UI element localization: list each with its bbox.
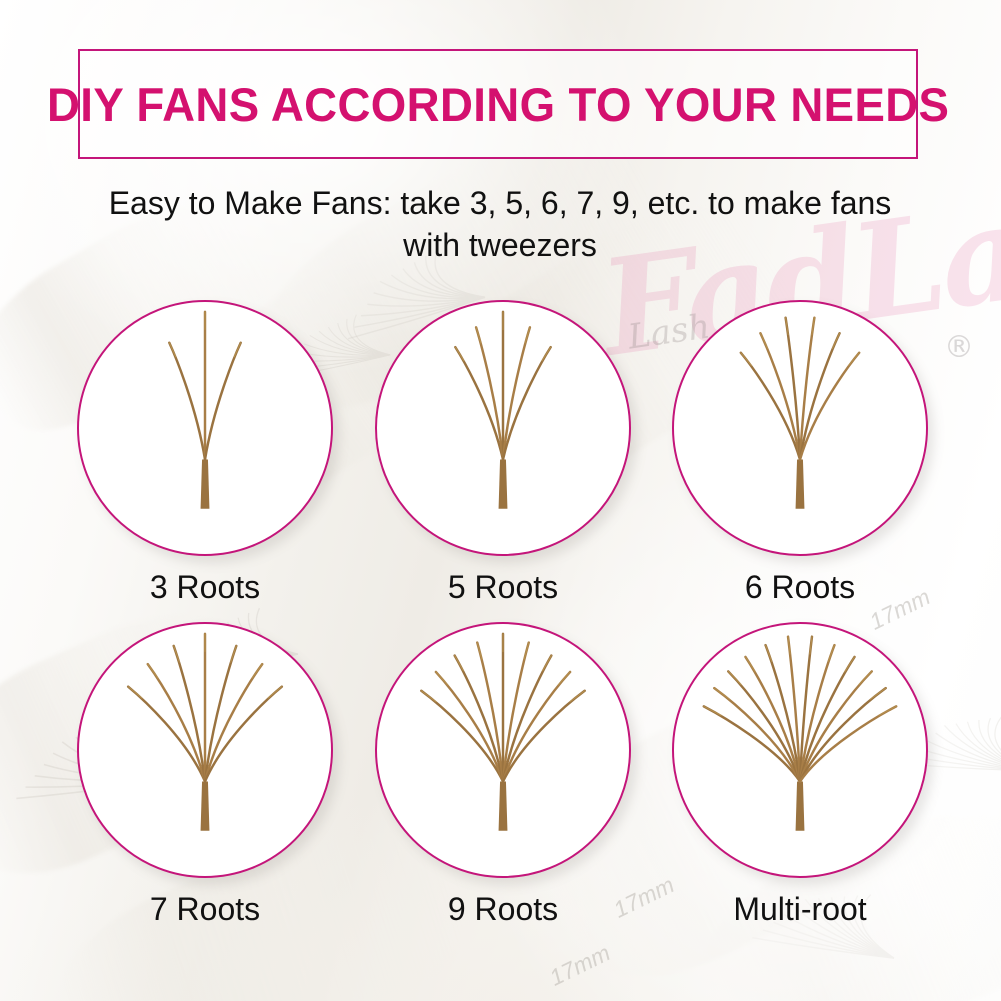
infographic-page: FadLash Lash ® 17mm 17mm 17mm DIY FANS A…	[0, 0, 1001, 1001]
lash-strand-tip	[728, 671, 741, 684]
lash-strand	[205, 687, 282, 782]
fan-circle[interactable]	[375, 300, 631, 556]
lash-fan-illustration	[674, 302, 926, 554]
lash-strand-tip	[477, 643, 482, 660]
fan-row: 3 Roots5 Roots6 Roots	[0, 300, 1001, 622]
lash-strand	[741, 353, 800, 460]
fan-cell-5-roots[interactable]: 5 Roots	[353, 300, 653, 606]
lash-strand-tip	[252, 664, 262, 678]
fan-circle[interactable]	[77, 622, 333, 878]
lash-strand-tip	[849, 353, 860, 366]
fan-circle[interactable]	[672, 622, 928, 878]
subtitle-text: Easy to Make Fans: take 3, 5, 6, 7, 9, e…	[90, 182, 910, 266]
lash-strand-tip	[714, 688, 729, 699]
page-title: DIY FANS ACCORDING TO YOUR NEEDS	[47, 77, 949, 132]
lash-strand-tip	[870, 688, 885, 699]
fan-cell-3-roots[interactable]: 3 Roots	[55, 300, 355, 606]
watermark-size-label: 17mm	[545, 939, 614, 991]
lash-strand-tip	[231, 646, 237, 662]
lash-strand-tip	[542, 347, 551, 360]
lash-strand	[169, 343, 205, 460]
lash-strand-tip	[766, 645, 772, 661]
fan-label: Multi-root	[650, 890, 950, 928]
lash-strand-tip	[543, 656, 552, 671]
lash-strand-tip	[476, 327, 481, 343]
fan-label: 9 Roots	[353, 890, 653, 928]
lash-strand-tip	[760, 333, 767, 348]
lash-strand-tip	[828, 645, 834, 661]
lash-fan-illustration	[79, 624, 331, 876]
lash-strand-tip	[148, 664, 158, 678]
fan-cell-6-roots[interactable]: 6 Roots	[650, 300, 950, 606]
lash-strand-tip	[169, 343, 175, 357]
fan-label: 6 Roots	[650, 568, 950, 606]
fan-label: 5 Roots	[353, 568, 653, 606]
fan-root-stem	[796, 782, 805, 831]
lash-fan-illustration	[674, 624, 926, 876]
lash-fan-illustration	[79, 302, 331, 554]
lash-strand-tip	[436, 672, 448, 685]
lash-strand-tip	[174, 646, 180, 662]
lash-strand	[800, 353, 859, 460]
lash-strand-tip	[845, 657, 855, 672]
lash-strand	[800, 706, 896, 781]
lash-strand-tip	[128, 687, 142, 698]
lash-strand-tip	[741, 353, 752, 366]
fan-grid: 3 Roots5 Roots6 Roots7 Roots9 RootsMulti…	[0, 300, 1001, 944]
lash-strand-tip	[268, 687, 282, 698]
fan-row: 7 Roots9 RootsMulti-root	[0, 622, 1001, 944]
lash-strand	[128, 687, 205, 782]
lash-strand	[205, 343, 241, 460]
title-banner: DIY FANS ACCORDING TO YOUR NEEDS	[78, 49, 918, 159]
fan-label: 7 Roots	[55, 890, 355, 928]
lash-strand-tip	[879, 706, 896, 715]
lash-strand	[704, 706, 800, 781]
fan-circle[interactable]	[77, 300, 333, 556]
lash-strand	[455, 347, 503, 459]
lash-strand	[503, 347, 551, 459]
lash-strand-tip	[234, 343, 240, 357]
fan-label: 3 Roots	[55, 568, 355, 606]
fan-circle[interactable]	[672, 300, 928, 556]
lash-strand-tip	[859, 671, 872, 684]
fan-cell-9-roots[interactable]: 9 Roots	[353, 622, 653, 928]
lash-strand-tip	[745, 657, 755, 672]
lash-strand-tip	[421, 691, 436, 702]
lash-strand-tip	[704, 706, 721, 715]
lash-strand-tip	[525, 327, 530, 343]
fan-root-stem	[201, 460, 210, 509]
lash-strand-tip	[832, 333, 839, 348]
fan-cell-multi-root[interactable]: Multi-root	[650, 622, 950, 928]
lash-strand-tip	[570, 691, 585, 702]
lash-fan-illustration	[377, 302, 629, 554]
fan-root-stem	[499, 460, 508, 509]
lash-strand-tip	[524, 643, 529, 660]
lash-strand-tip	[455, 656, 464, 671]
fan-root-stem	[201, 782, 210, 831]
fan-cell-7-roots[interactable]: 7 Roots	[55, 622, 355, 928]
fan-root-stem	[499, 782, 508, 831]
lash-fan-illustration	[377, 624, 629, 876]
fan-root-stem	[796, 460, 805, 509]
fan-circle[interactable]	[375, 622, 631, 878]
lash-strand-tip	[558, 672, 570, 685]
lash-strand-tip	[455, 347, 464, 360]
